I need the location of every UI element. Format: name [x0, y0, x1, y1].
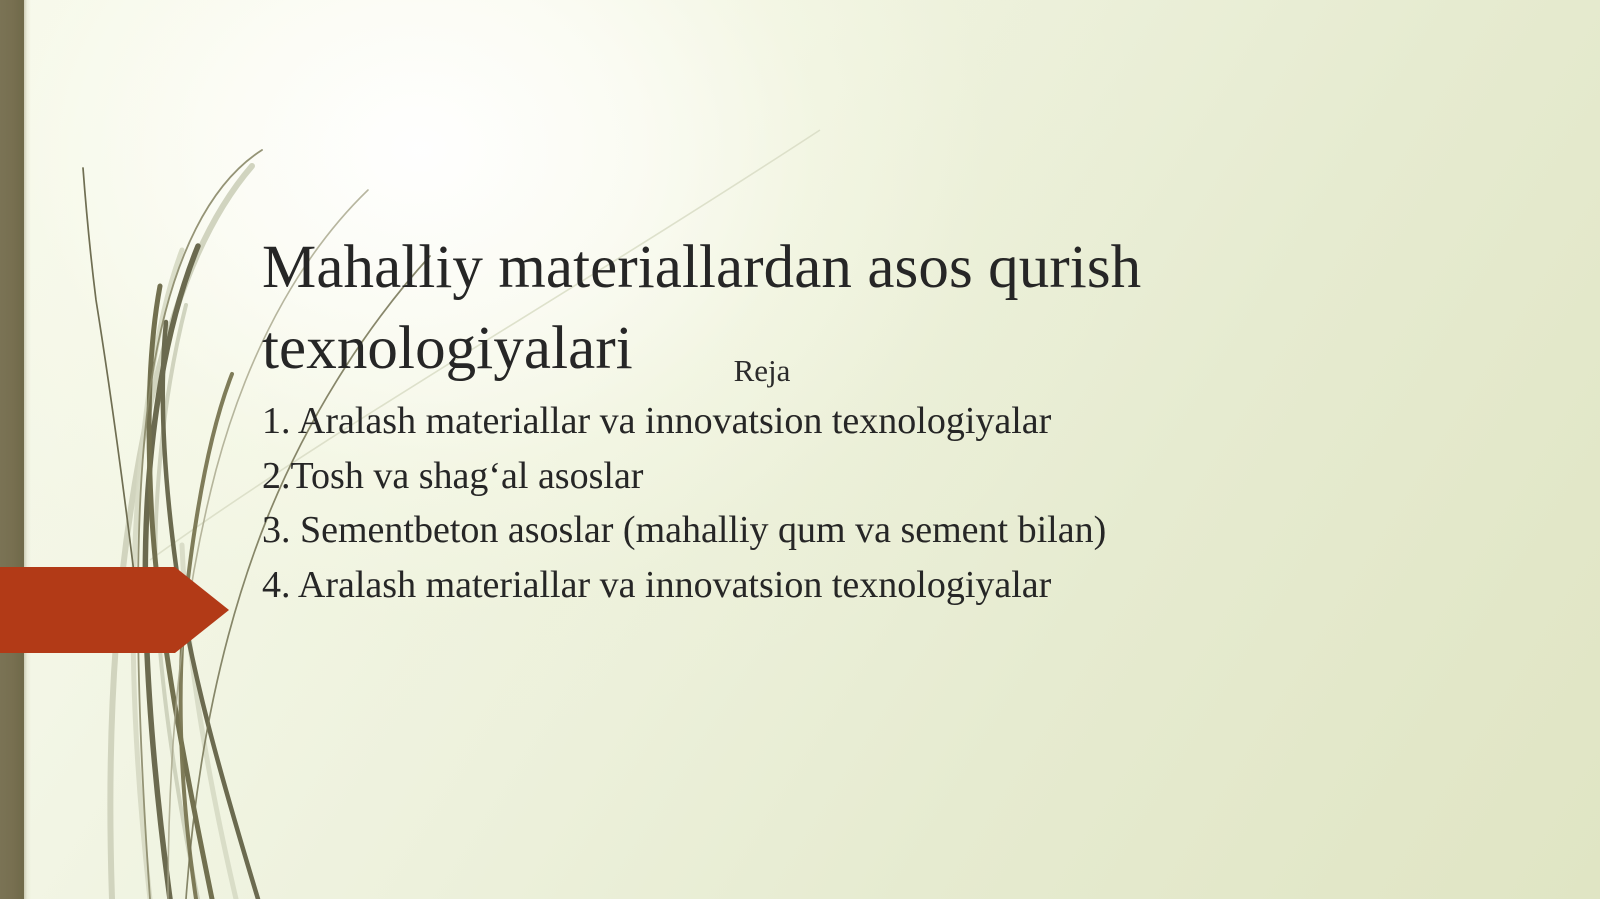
agenda-list: 1. Aralash materiallar va innovatsion te…	[262, 394, 1442, 612]
presentation-slide: Mahalliy materiallardan asos qurish texn…	[0, 0, 1600, 899]
list-item: 1. Aralash materiallar va innovatsion te…	[262, 394, 1442, 449]
section-label-reja: Reja	[262, 352, 1262, 391]
slide-content: Mahalliy materiallardan asos qurish texn…	[0, 0, 1600, 899]
list-item: 2.Tosh va shag‘al asoslar	[262, 449, 1442, 504]
list-item: 3. Sementbeton asoslar (mahalliy qum va …	[262, 503, 1442, 558]
list-item: 4. Aralash materiallar va innovatsion te…	[262, 558, 1442, 613]
